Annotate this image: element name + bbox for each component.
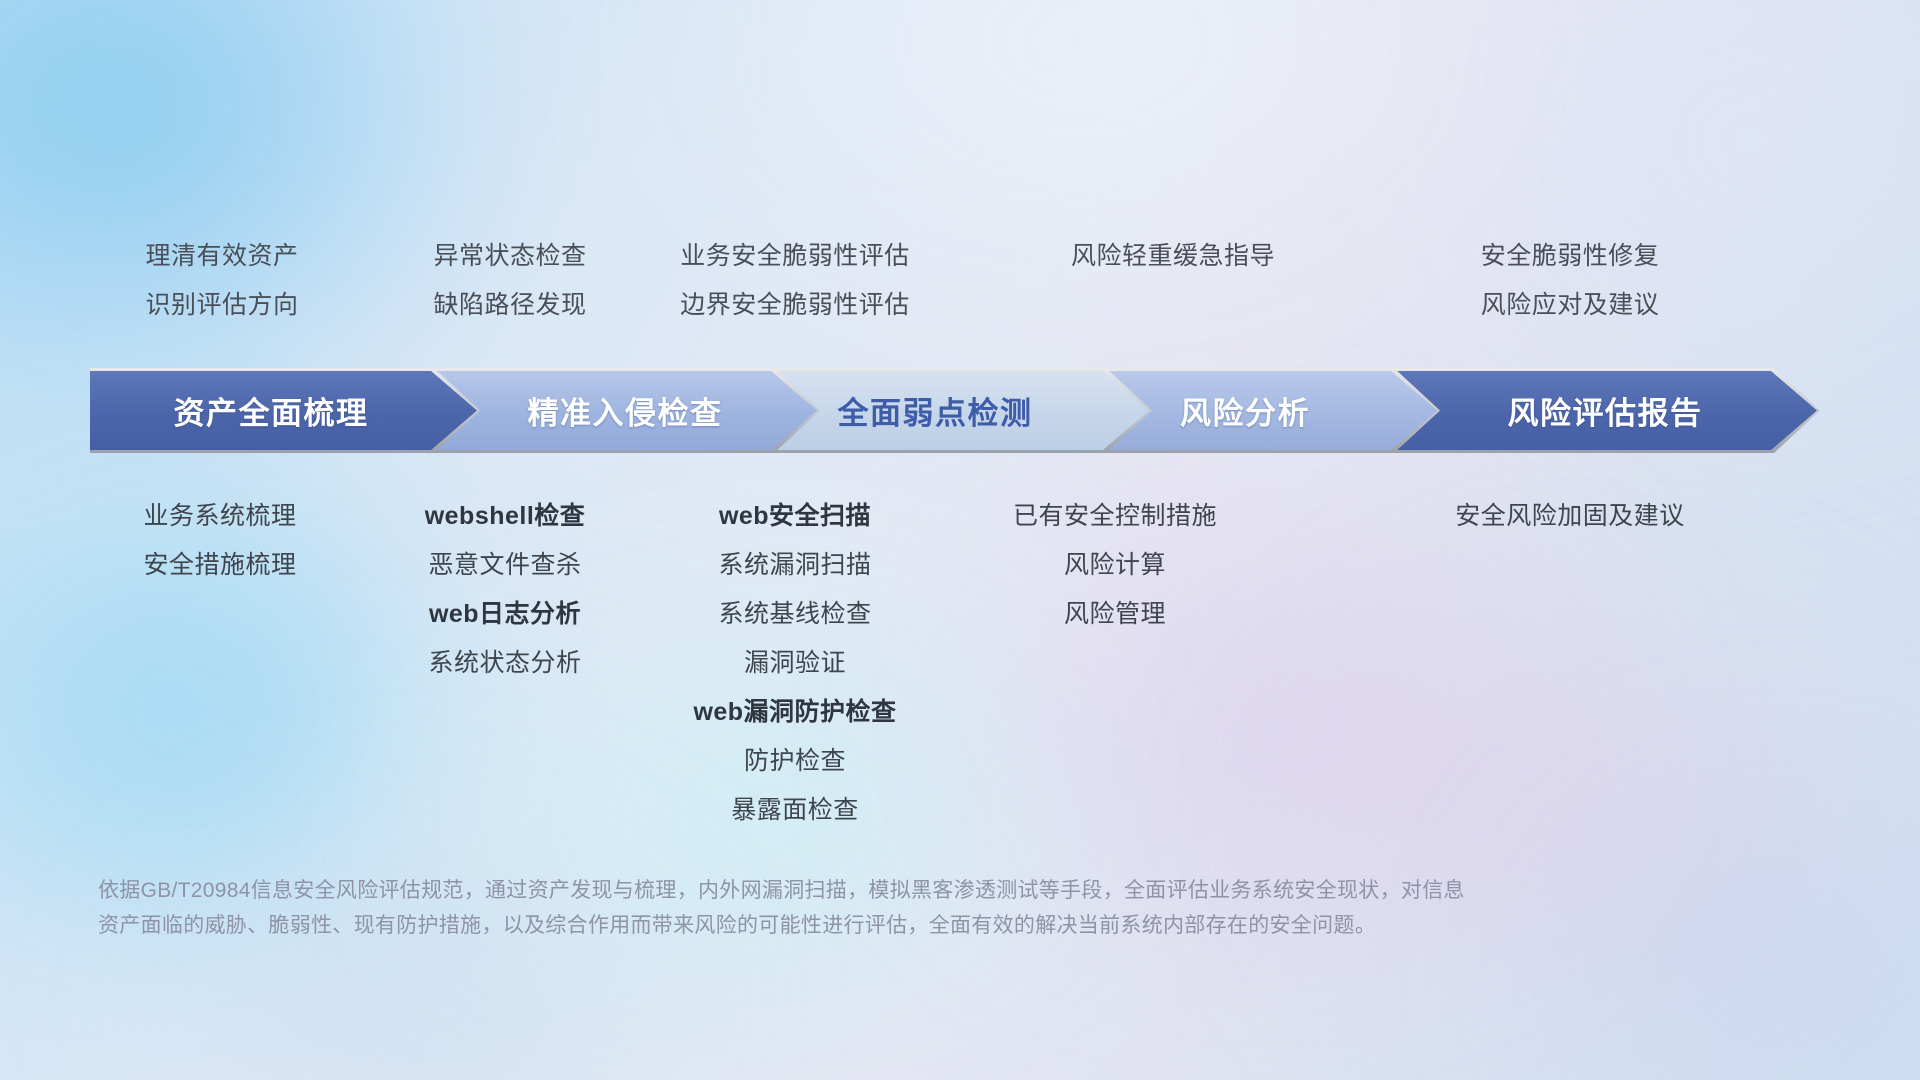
diagram-stage: 理清有效资产 识别评估方向 异常状态检查 缺陷路径发现 业务安全脆弱性评估 边界…: [0, 0, 1920, 1080]
footer-line-2: 资产面临的威胁、脆弱性、现有防护措施，以及综合作用而带来风险的可能性进行评估，全…: [98, 908, 1618, 943]
list-item: 安全风险加固及建议: [1360, 492, 1780, 541]
list-item: 系统基线检查: [640, 590, 950, 639]
stage-3-bottom-list: web安全扫描 系统漏洞扫描 系统基线检查 漏洞验证 web漏洞防护检查 防护检…: [640, 492, 950, 835]
list-item: 恶意文件查杀: [350, 541, 660, 590]
chevron-label: 资产全面梳理: [174, 388, 369, 433]
list-item: 风险管理: [955, 590, 1275, 639]
list-item: 风险轻重缓急指导: [1028, 232, 1318, 281]
chevron-stage-5[interactable]: 风险评估报告: [1390, 368, 1820, 453]
list-item: web日志分析: [350, 590, 660, 639]
stage-1-top-list: 理清有效资产 识别评估方向: [62, 232, 382, 330]
list-item: 风险计算: [955, 541, 1275, 590]
list-item: 边界安全脆弱性评估: [640, 281, 950, 330]
list-item: 安全脆弱性修复: [1420, 232, 1720, 281]
list-item: 暴露面检查: [640, 786, 950, 835]
chevron-label: 精准入侵检查: [528, 388, 723, 433]
list-item: web安全扫描: [640, 492, 950, 541]
list-item: 漏洞验证: [640, 639, 950, 688]
list-item: 已有安全控制措施: [955, 492, 1275, 541]
stage-3-top-list: 业务安全脆弱性评估 边界安全脆弱性评估: [640, 232, 950, 330]
list-item: 缺陷路径发现: [350, 281, 670, 330]
footer-line-1: 依据GB/T20984信息安全风险评估规范，通过资产发现与梳理，内外网漏洞扫描，…: [98, 873, 1618, 908]
process-chevron-band: 风险评估报告 风险分析 全面弱点检测 精准入侵检查 资产全面梳理: [90, 368, 1820, 453]
list-item: 安全措施梳理: [60, 541, 380, 590]
list-item: 系统状态分析: [350, 639, 660, 688]
list-item: 业务系统梳理: [60, 492, 380, 541]
stage-1-bottom-list: 业务系统梳理 安全措施梳理: [60, 492, 380, 590]
list-item: 识别评估方向: [62, 281, 382, 330]
list-item: web漏洞防护检查: [640, 688, 950, 737]
stage-2-top-list: 异常状态检查 缺陷路径发现: [350, 232, 670, 330]
stage-4-top-list: 风险轻重缓急指导: [1028, 232, 1318, 281]
list-item: 异常状态检查: [350, 232, 670, 281]
list-item: 风险应对及建议: [1420, 281, 1720, 330]
chevron-stage-2[interactable]: 精准入侵检查: [430, 368, 820, 453]
list-item: 理清有效资产: [62, 232, 382, 281]
stage-5-bottom-list: 安全风险加固及建议: [1360, 492, 1780, 541]
list-item: 系统漏洞扫描: [640, 541, 950, 590]
chevron-label: 风险评估报告: [1508, 388, 1703, 433]
stage-2-bottom-list: webshell检查 恶意文件查杀 web日志分析 系统状态分析: [350, 492, 660, 688]
stage-5-top-list: 安全脆弱性修复 风险应对及建议: [1420, 232, 1720, 330]
chevron-label: 风险分析: [1180, 388, 1310, 433]
chevron-label: 全面弱点检测: [838, 388, 1033, 433]
list-item: webshell检查: [350, 492, 660, 541]
footer-description: 依据GB/T20984信息安全风险评估规范，通过资产发现与梳理，内外网漏洞扫描，…: [98, 873, 1618, 943]
list-item: 业务安全脆弱性评估: [640, 232, 950, 281]
chevron-stage-1[interactable]: 资产全面梳理: [90, 368, 480, 453]
stage-4-bottom-list: 已有安全控制措施 风险计算 风险管理: [955, 492, 1275, 639]
list-item: 防护检查: [640, 737, 950, 786]
